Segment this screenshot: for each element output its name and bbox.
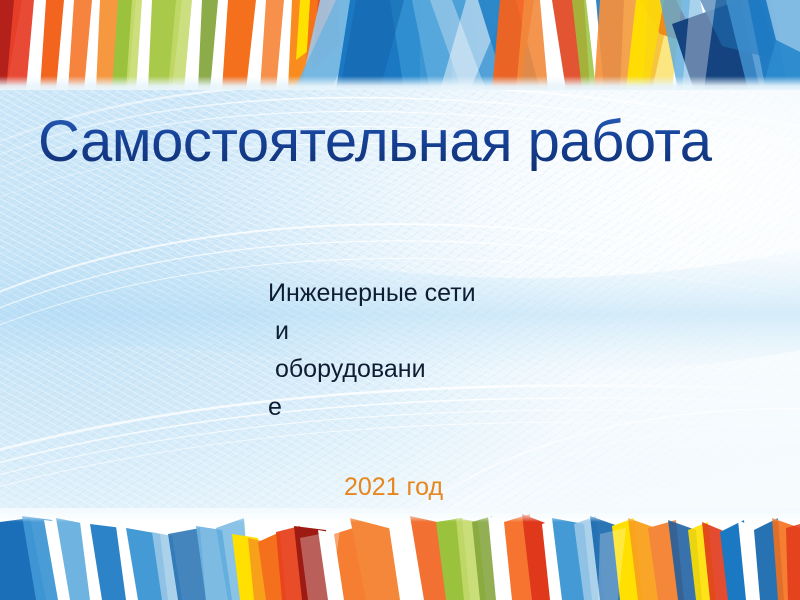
decorative-band-top <box>0 0 800 90</box>
subtitle-line-1: Инженерные сети <box>268 274 568 312</box>
subtitle-line-4: е <box>268 388 568 426</box>
abstract-geometric-shards-top-icon <box>0 0 800 90</box>
subtitle-line-3: оборудовани <box>268 350 568 388</box>
slide-title: Самостоятельная работа <box>38 113 778 171</box>
slide-year: 2021 год <box>344 473 443 501</box>
presentation-slide: Самостоятельная работа Инженерные сети и… <box>0 0 800 600</box>
decorative-band-bottom <box>0 508 800 600</box>
slide-subtitle: Инженерные сети и оборудовани е <box>268 274 568 426</box>
abstract-geometric-shards-bottom-icon <box>0 508 800 600</box>
subtitle-line-2: и <box>268 312 568 350</box>
